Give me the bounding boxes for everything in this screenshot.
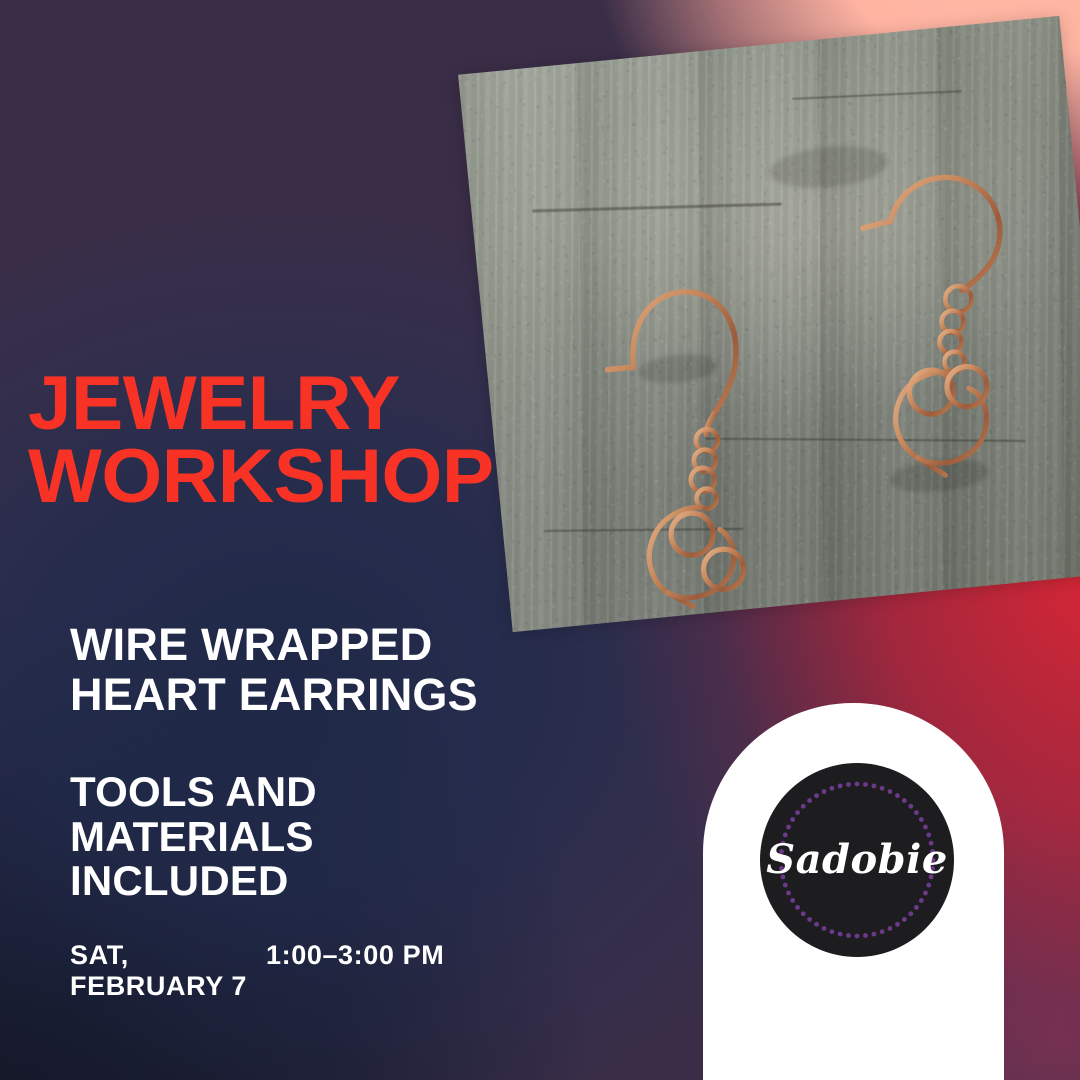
schedule: SAT, FEBRUARY 7 1:00–3:00 PM bbox=[70, 940, 670, 1002]
subheadline-line-2: HEART EARRINGS bbox=[70, 670, 590, 720]
product-photo bbox=[458, 16, 1080, 632]
subheadline: WIRE WRAPPED HEART EARRINGS bbox=[70, 620, 590, 719]
subheadline-line-1: WIRE WRAPPED bbox=[70, 620, 590, 670]
brand-name: Sadobie bbox=[766, 840, 948, 880]
headline-line-1: JEWELRY bbox=[28, 367, 564, 440]
photo-wood-background bbox=[458, 16, 1080, 632]
inclusions-text: TOOLS AND MATERIALS INCLUDED bbox=[70, 770, 500, 904]
headline-line-2: WORKSHOP bbox=[28, 440, 564, 513]
inclusions-line-1: TOOLS AND bbox=[70, 770, 500, 815]
poster-canvas: JEWELRY WORKSHOP WIRE WRAPPED HEART EARR… bbox=[0, 0, 1080, 1080]
earring-right bbox=[801, 166, 1080, 519]
inclusions-line-2: MATERIALS bbox=[70, 815, 500, 860]
inclusions-line-3: INCLUDED bbox=[70, 859, 500, 904]
event-time: 1:00–3:00 PM bbox=[266, 940, 444, 971]
event-date: SAT, FEBRUARY 7 bbox=[70, 940, 266, 1002]
headline: JEWELRY WORKSHOP bbox=[28, 367, 564, 514]
logo-badge: Sadobie bbox=[760, 763, 954, 957]
